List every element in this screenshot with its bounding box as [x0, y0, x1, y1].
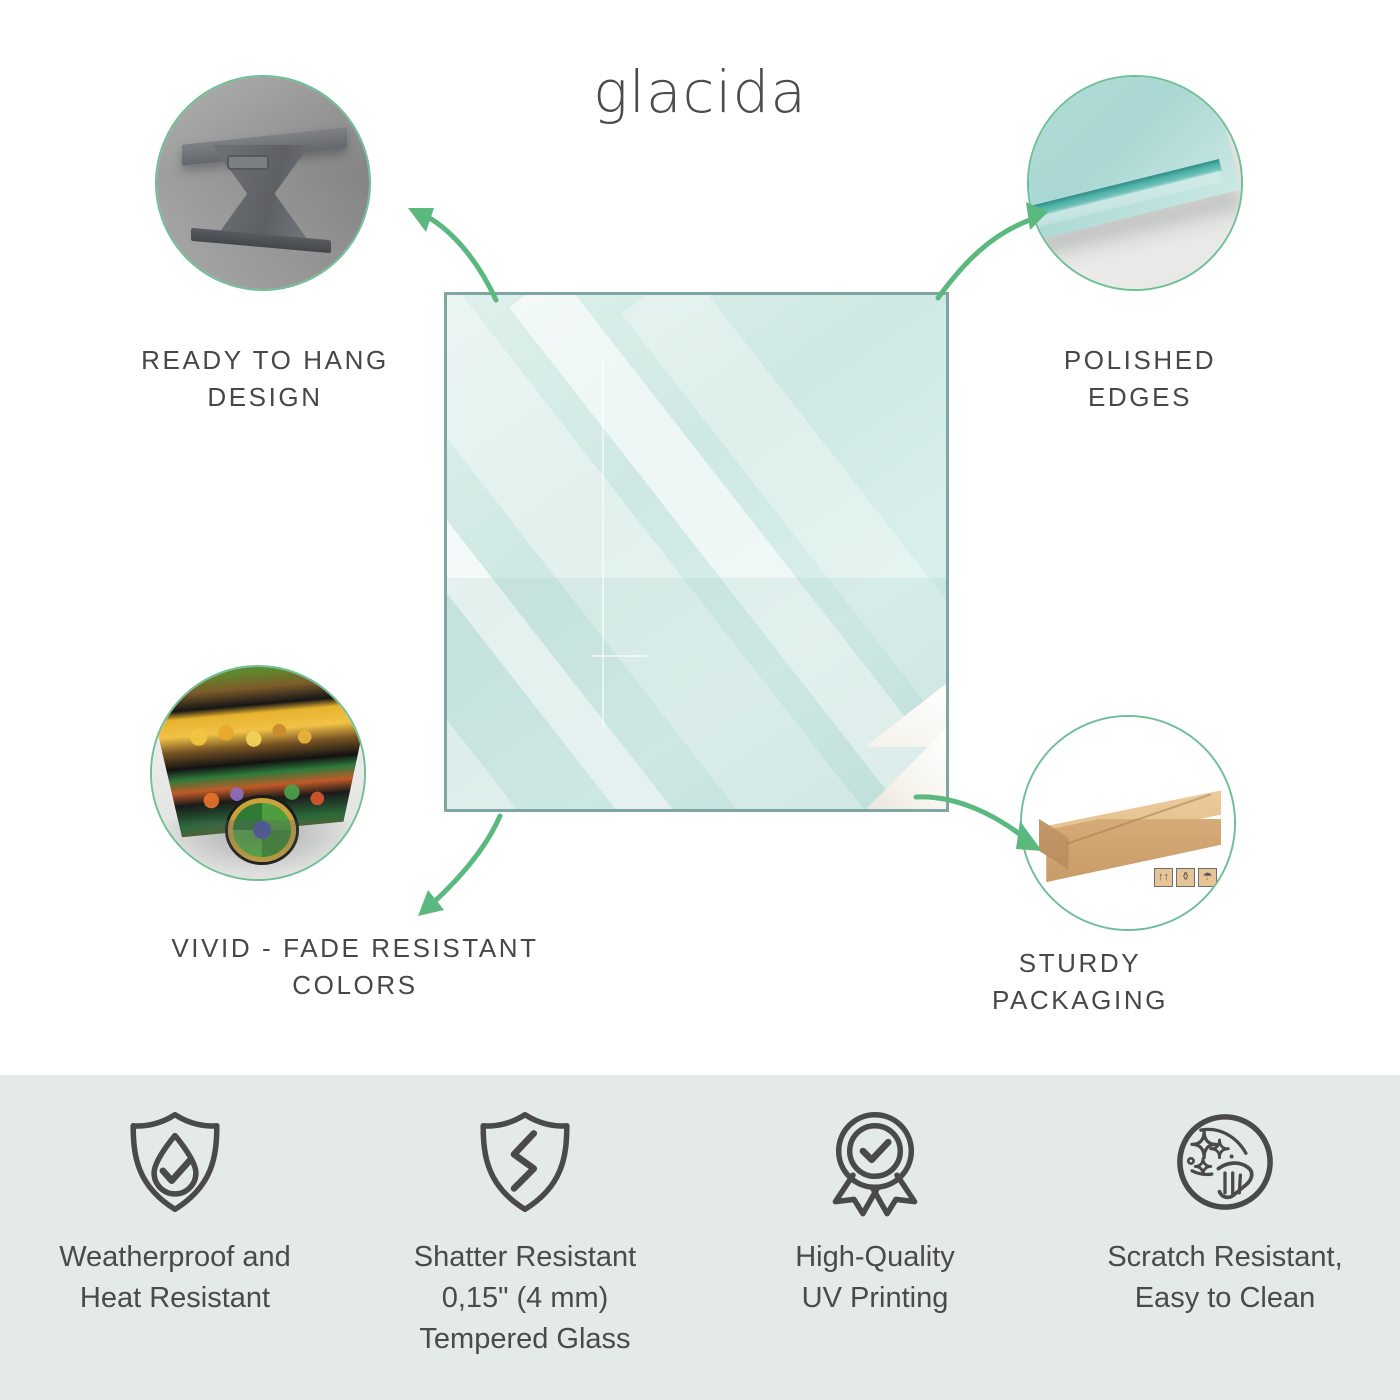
- shield-droplet-check-icon: [120, 1107, 230, 1217]
- bottom-feature-scratch-resistant: Scratch Resistant, Easy to Clean: [1050, 1075, 1400, 1400]
- bottom-feature-uv-printing: High-Quality UV Printing: [700, 1075, 1050, 1400]
- bracket-slot: [227, 155, 269, 170]
- feature-label-ready-to-hang: READY TO HANG DESIGN: [60, 342, 470, 416]
- arrow-to-vivid-colors: [398, 810, 568, 940]
- glass-highlight-line: [592, 655, 647, 657]
- award-badge-check-icon: [820, 1107, 930, 1217]
- bottom-feature-label: High-Quality UV Printing: [785, 1237, 965, 1319]
- feature-label-vivid-colors: VIVID - FADE RESISTANT COLORS: [75, 930, 635, 1004]
- arrow-to-ready-to-hang: [400, 180, 570, 315]
- tempered-glass-panel: [444, 292, 949, 812]
- bottom-feature-shatter-resistant: Shatter Resistant 0,15" (4 mm) Tempered …: [350, 1075, 700, 1400]
- bottom-feature-bar: Weatherproof and Heat Resistant Shatter …: [0, 1075, 1400, 1400]
- bottom-feature-label: Shatter Resistant 0,15" (4 mm) Tempered …: [404, 1237, 646, 1361]
- feature-label-sturdy-packaging: STURDY PACKAGING: [880, 945, 1280, 1019]
- glass-highlight-line: [602, 357, 604, 727]
- feature-vivid-colors: [150, 665, 366, 881]
- hanging-bracket-photo: [155, 75, 371, 291]
- bottom-feature-weatherproof: Weatherproof and Heat Resistant: [0, 1075, 350, 1400]
- arrow-to-sturdy-packaging: [910, 755, 1100, 885]
- bottom-feature-label: Scratch Resistant, Easy to Clean: [1097, 1237, 1352, 1319]
- infographic-page: glacida READY TO HANG DESIGN POLISHED ED…: [0, 0, 1400, 1400]
- keep-dry-icon: ☂: [1198, 868, 1217, 887]
- artwork-shadow: [160, 820, 355, 875]
- this-side-up-icon: ↑↑: [1154, 868, 1173, 887]
- glass-lower-band: [447, 578, 946, 809]
- bottom-feature-label: Weatherproof and Heat Resistant: [49, 1237, 301, 1319]
- feature-label-polished-edges: POLISHED EDGES: [940, 342, 1340, 416]
- shield-bolt-icon: [470, 1107, 580, 1217]
- arrow-to-polished-edges: [930, 190, 1090, 310]
- handling-symbols: ↑↑ ⚱ ☂: [1154, 868, 1217, 887]
- fragile-icon: ⚱: [1176, 868, 1195, 887]
- sparkle-hand-wipe-icon: [1170, 1107, 1280, 1217]
- stained-glass-artwork-photo: [150, 665, 366, 881]
- feature-ready-to-hang: [155, 75, 371, 291]
